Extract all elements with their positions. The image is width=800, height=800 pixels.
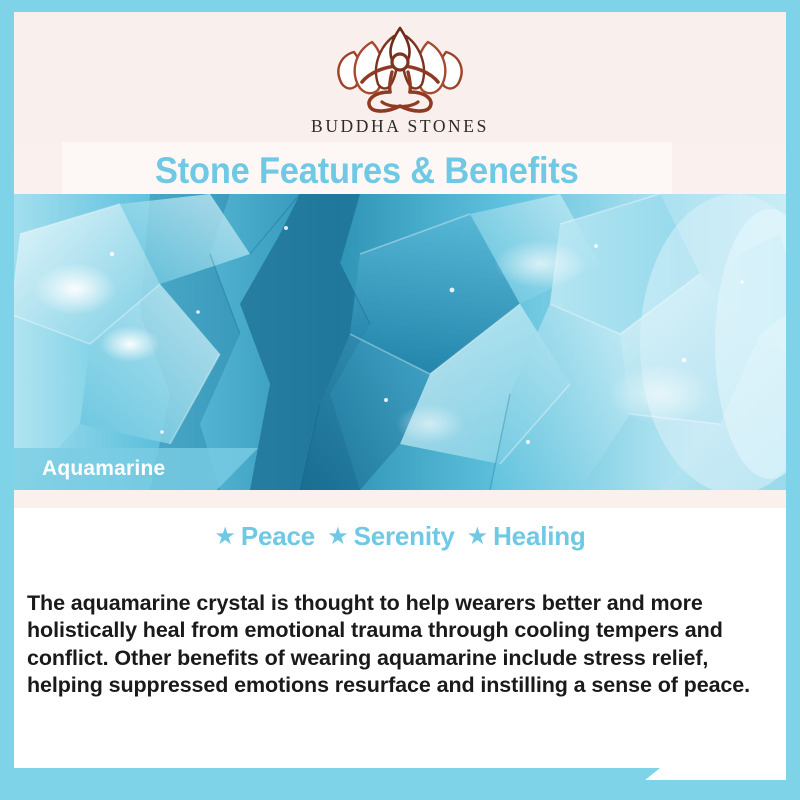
stone-photo: Aquamarine — [14, 194, 786, 490]
brand-wordmark: BUDDHA STONES — [14, 116, 786, 137]
star-icon: ★ — [327, 522, 349, 551]
stone-name-label: Aquamarine — [42, 457, 165, 481]
star-icon: ★ — [214, 522, 236, 551]
top-edge-band — [0, 0, 800, 12]
bottom-accent-band — [0, 768, 660, 800]
brand-header: BUDDHA STONES — [14, 12, 786, 146]
title-banner: Stone Features & Benefits — [62, 142, 672, 198]
keyword-peace: Peace — [241, 521, 315, 552]
left-edge-band — [0, 0, 14, 790]
star-icon: ★ — [467, 522, 489, 551]
keyword-serenity: Serenity — [354, 521, 455, 552]
brand-logo: BUDDHA STONES — [14, 22, 786, 137]
body-paragraph: The aquamarine crystal is thought to hel… — [27, 590, 775, 700]
poster-card: BUDDHA STONES Stone Features & Benefits — [14, 12, 786, 780]
lotus-meditation-figure-icon — [312, 22, 488, 114]
keyword-row: ★Peace★Serenity★Healing — [14, 521, 786, 552]
stone-name-plate: Aquamarine — [14, 448, 258, 490]
keyword-healing: Healing — [493, 521, 586, 552]
poster-page: BUDDHA STONES Stone Features & Benefits — [0, 0, 800, 800]
aquamarine-crystal-image — [14, 194, 786, 490]
page-title: Stone Features & Benefits — [155, 152, 579, 189]
content-area: ★Peace★Serenity★Healing The aquamarine c… — [14, 508, 786, 780]
right-edge-band — [786, 0, 800, 800]
